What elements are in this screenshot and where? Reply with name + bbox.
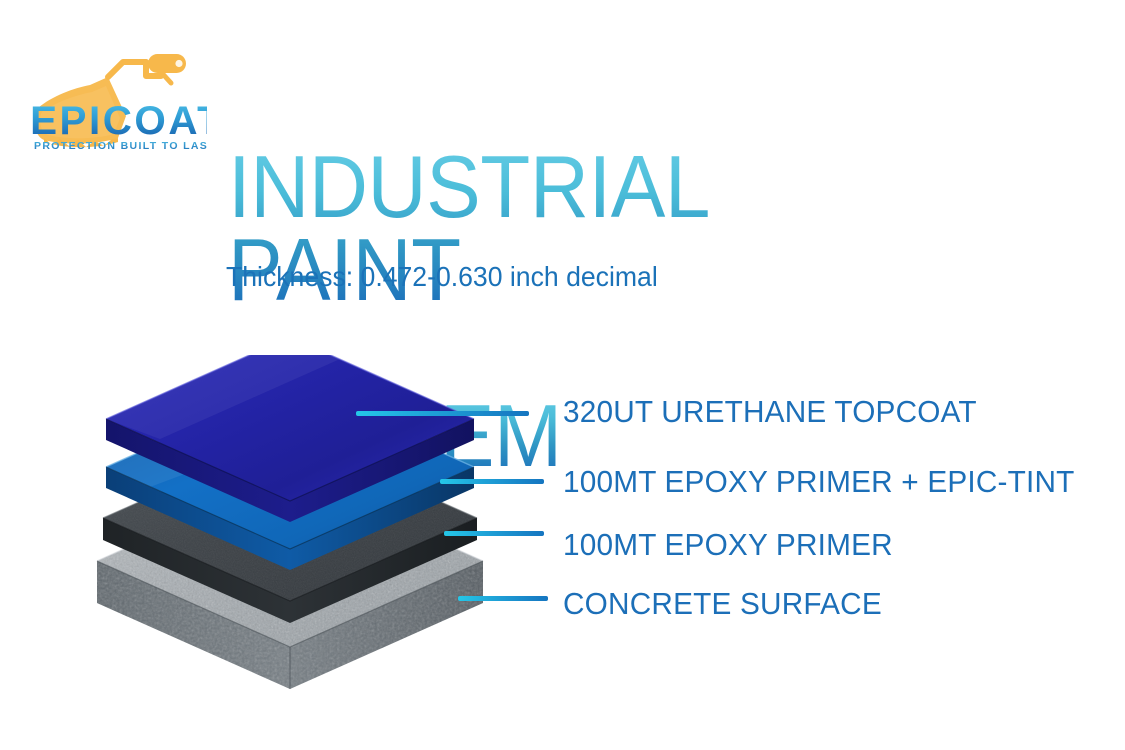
brand-tagline: PROTECTION BUILT TO LAST <box>34 140 207 152</box>
layer-label-topcoat[interactable]: 320UT URETHANE TOPCOAT <box>563 394 977 430</box>
brand-logo[interactable]: EPICOATS PROTECTION BUILT TO LAST <box>22 52 207 154</box>
leader-line-concrete <box>458 596 548 601</box>
layer-label-primer-tint[interactable]: 100MT EPOXY PRIMER + EPIC-TINT <box>563 464 1075 500</box>
leader-line-primer <box>444 531 544 536</box>
thickness-subtitle: Thickness: 0.472-0.630 inch decimal <box>226 261 658 293</box>
brand-name: EPICOATS <box>30 98 207 143</box>
leader-line-topcoat <box>356 411 529 416</box>
layer-label-concrete[interactable]: CONCRETE SURFACE <box>563 586 882 622</box>
layer-label-primer[interactable]: 100MT EPOXY PRIMER <box>563 527 893 563</box>
leader-line-primer-tint <box>440 479 544 484</box>
